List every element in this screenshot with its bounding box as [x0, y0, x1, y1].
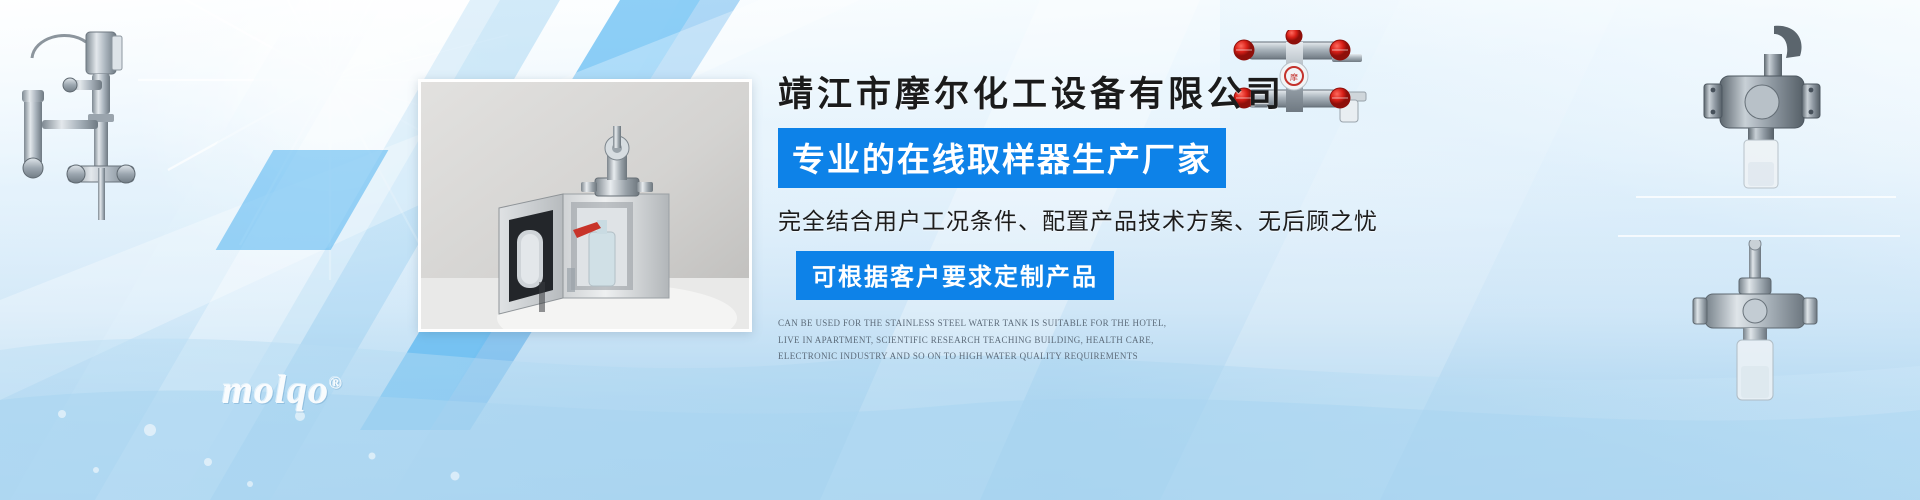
shelf-line-upper: [1636, 196, 1896, 198]
shelf-line-lower: [1618, 235, 1900, 237]
bottom-right-sampling-valve-illustration: [1685, 240, 1825, 410]
watermark-logo: molqo®: [222, 366, 343, 413]
cta-badge[interactable]: 可根据客户要求定制产品: [796, 251, 1114, 300]
registered-mark-icon: ®: [329, 374, 343, 393]
banner-text-block: 靖江市摩尔化工设备有限公司 专业的在线取样器生产厂家 完全结合用户工况条件、配置…: [778, 74, 1398, 365]
subline-text: 完全结合用户工况条件、配置产品技术方案、无后顾之忧: [778, 202, 1398, 236]
watermark-text: molqo: [222, 367, 329, 412]
headline-badge: 专业的在线取样器生产厂家: [778, 128, 1226, 188]
company-name: 靖江市摩尔化工设备有限公司: [778, 74, 1398, 116]
english-description: CAN BE USED FOR THE STAINLESS STEEL WATE…: [778, 315, 1176, 365]
product-photo-image: [421, 82, 749, 329]
product-photo: [418, 79, 752, 332]
top-right-valve-illustration: [1690, 22, 1830, 197]
left-sampler-assembly-illustration: [8, 20, 168, 220]
promo-banner: 摩: [0, 0, 1920, 500]
